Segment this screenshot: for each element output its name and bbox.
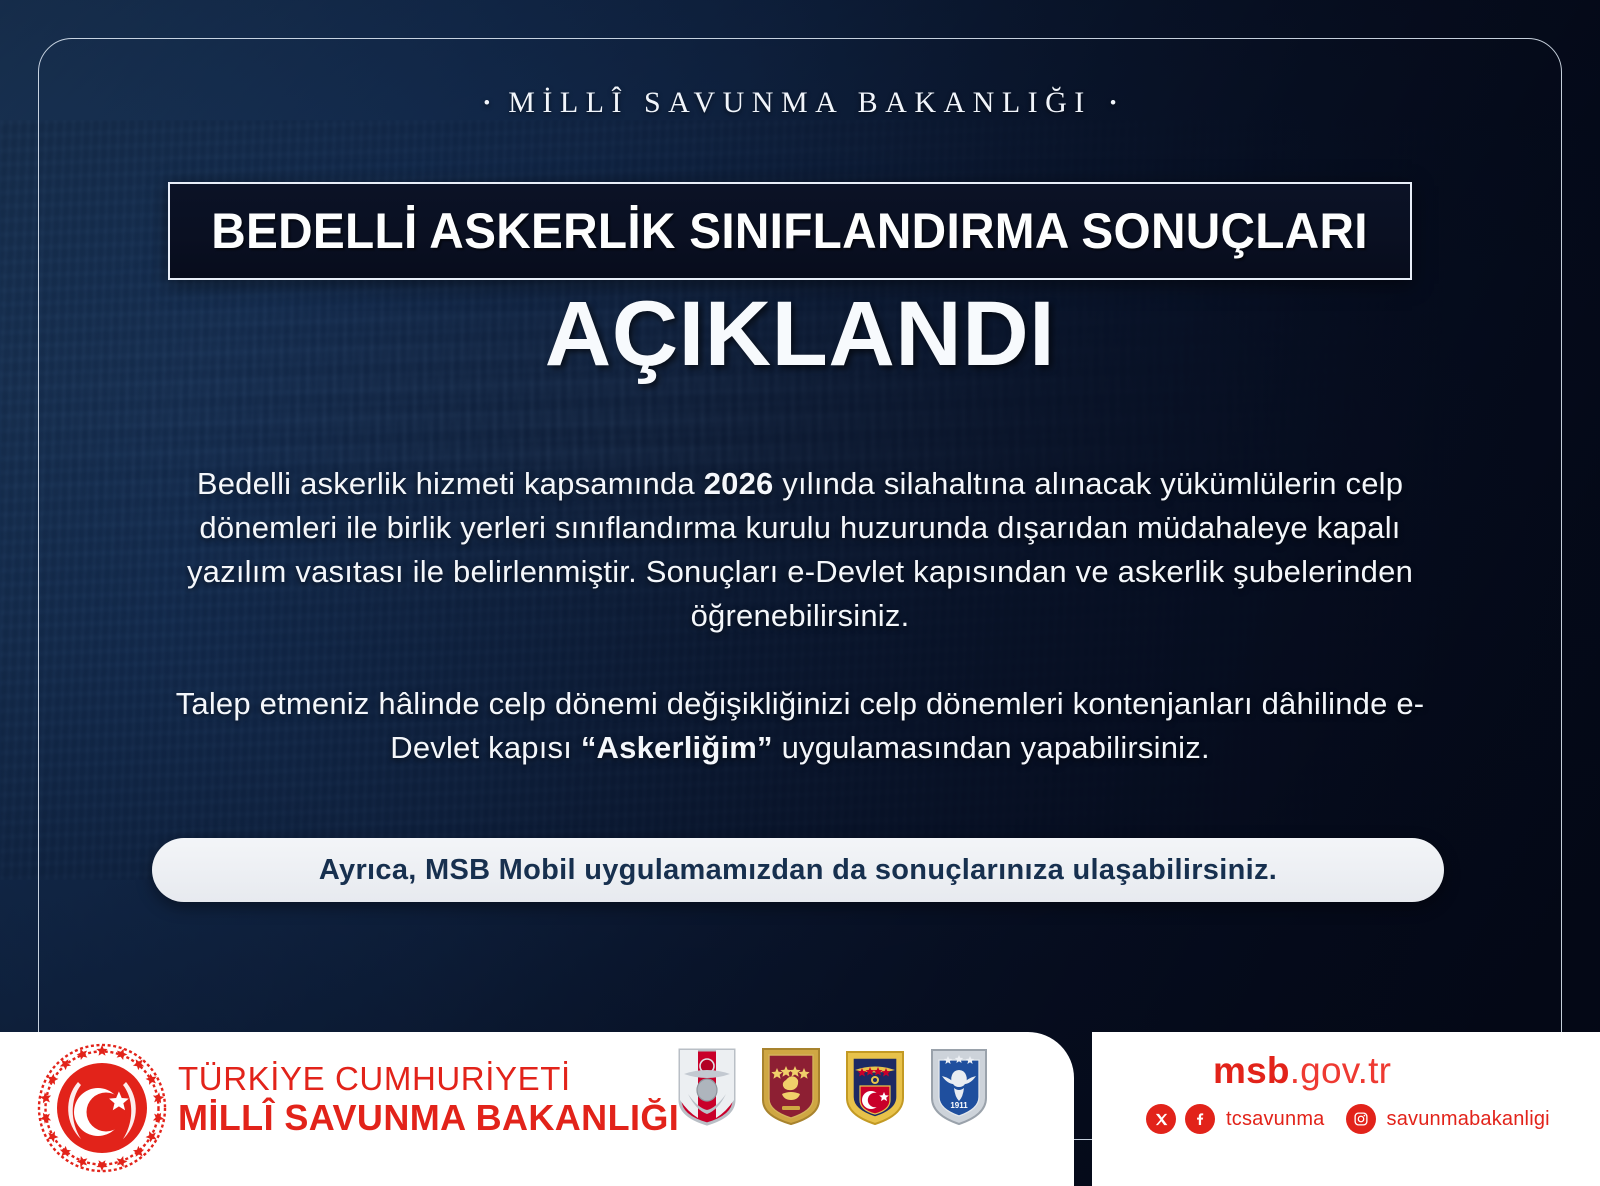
- air-forces-year-label: 1911: [950, 1101, 968, 1110]
- instagram-icon[interactable]: [1346, 1104, 1376, 1134]
- social-links: tcsavunma savunmabakanligi: [1146, 1104, 1562, 1134]
- poster-root: •MİLLÎ SAVUNMA BAKANLIĞI• BEDELLİ ASKERL…: [0, 0, 1600, 1186]
- title-band-label: BEDELLİ ASKERLİK SINIFLANDIRMA SONUÇLARI: [212, 202, 1369, 260]
- ministry-line-one: TÜRKİYE CUMHURİYETİ: [178, 1060, 679, 1098]
- paragraph-two-app-name: “Askerliğim”: [581, 730, 773, 765]
- naval-forces-emblem: [844, 1046, 906, 1126]
- website-url[interactable]: msb.gov.tr: [1213, 1050, 1391, 1092]
- paragraph-one-part-a: Bedelli askerlik hizmeti kapsamında: [197, 466, 704, 501]
- website-url-rest: .gov.tr: [1290, 1050, 1391, 1091]
- bullet-left-icon: •: [484, 93, 491, 114]
- ministry-wordmark: TÜRKİYE CUMHURİYETİ MİLLÎ SAVUNMA BAKANL…: [178, 1060, 679, 1138]
- highlight-banner-label: Ayrıca, MSB Mobil uygulamamızdan da sonu…: [319, 854, 1277, 887]
- bullet-right-icon: •: [1110, 93, 1117, 114]
- paragraph-one-year: 2026: [704, 466, 774, 501]
- title-band: BEDELLİ ASKERLİK SINIFLANDIRMA SONUÇLARI: [168, 182, 1412, 280]
- turkish-armed-forces-emblem: [676, 1046, 738, 1126]
- body-copy: Bedelli askerlik hizmeti kapsamında 2026…: [175, 462, 1425, 770]
- instagram-handle[interactable]: savunmabakanligi: [1387, 1108, 1550, 1131]
- ministry-line-two: MİLLÎ SAVUNMA BAKANLIĞI: [178, 1098, 679, 1138]
- land-forces-emblem: [760, 1046, 822, 1126]
- facebook-icon[interactable]: [1185, 1104, 1215, 1134]
- facebook-handle[interactable]: tcsavunma: [1226, 1108, 1325, 1131]
- headline-aciklandi: AÇIKLANDI: [0, 282, 1600, 387]
- x-twitter-icon[interactable]: [1146, 1104, 1176, 1134]
- paragraph-one: Bedelli askerlik hizmeti kapsamında 2026…: [175, 462, 1425, 638]
- air-forces-emblem: 1911: [928, 1046, 990, 1126]
- force-emblems-group: 1911: [676, 1046, 990, 1126]
- highlight-banner: Ayrıca, MSB Mobil uygulamamızdan da sonu…: [152, 838, 1444, 902]
- ministry-eyebrow: •MİLLÎ SAVUNMA BAKANLIĞI•: [0, 86, 1600, 120]
- website-url-bold: msb: [1213, 1050, 1290, 1091]
- msb-ministry-logo: [36, 1042, 168, 1174]
- eyebrow-label: MİLLÎ SAVUNMA BAKANLIĞI: [508, 86, 1092, 119]
- paragraph-two: Talep etmeniz hâlinde celp dönemi değişi…: [175, 682, 1425, 770]
- paragraph-two-part-b: uygulamasından yapabilirsiniz.: [773, 730, 1210, 765]
